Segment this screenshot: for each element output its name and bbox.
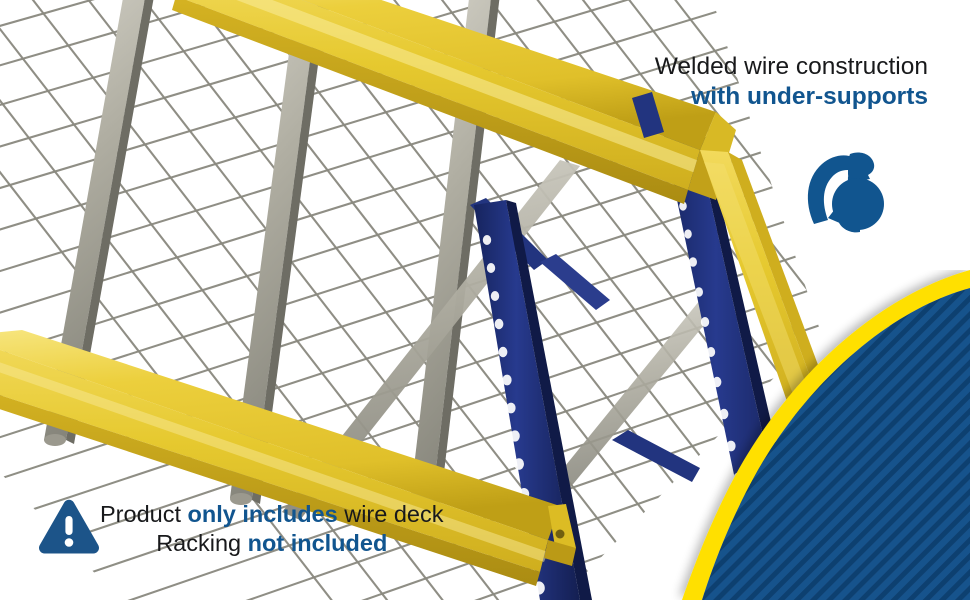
callout-bottom-line1-emphasis: only includes <box>188 501 338 527</box>
callout-bottom-line2-part1: Racking <box>156 530 247 556</box>
callout-top-line1: Welded wire construction <box>655 52 928 82</box>
warning-triangle-icon <box>36 497 102 559</box>
callout-product-scope: Product only includes wire deck Racking … <box>100 500 444 557</box>
callout-welded-wire: Welded wire construction with under-supp… <box>655 52 928 112</box>
callout-bottom-line1-part1: Product <box>100 501 188 527</box>
callout-bottom-line1: Product only includes wire deck <box>100 500 444 529</box>
callout-top-line2: with under-supports <box>655 82 928 112</box>
marketing-image-canvas: Welded wire construction with under-supp… <box>0 0 970 600</box>
flexed-bicep-icon <box>798 146 890 234</box>
callout-bottom-line1-part2: wire deck <box>338 501 444 527</box>
callout-bottom-line2: Racking not included <box>100 529 444 558</box>
callout-bottom-line2-emphasis: not included <box>248 530 388 556</box>
